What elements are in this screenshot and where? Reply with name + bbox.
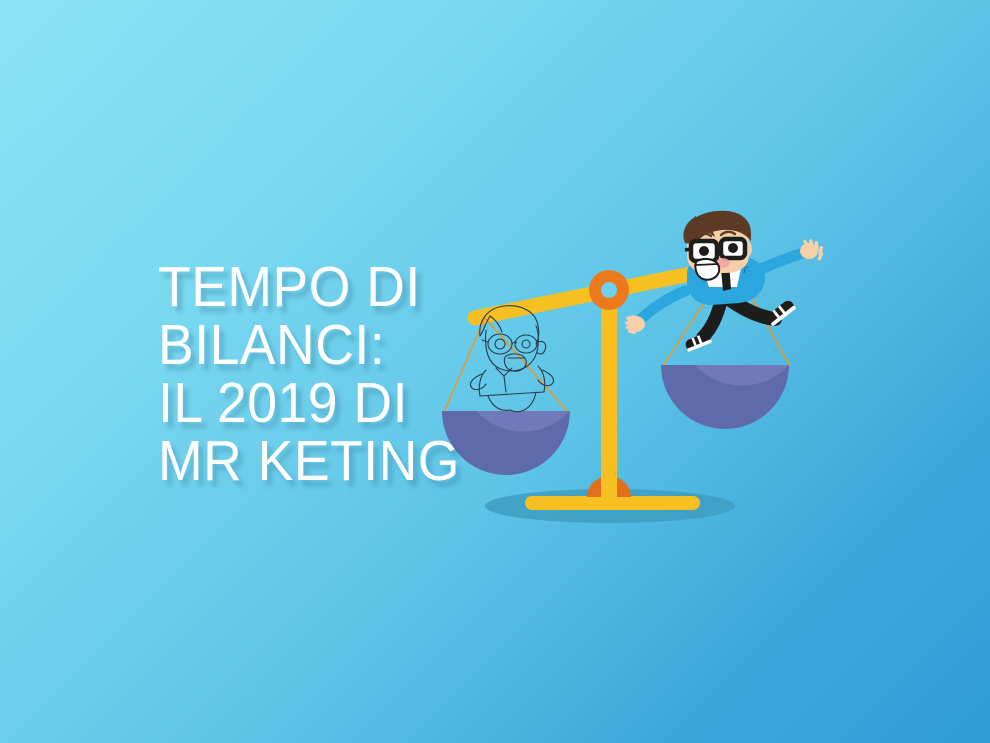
character-pupil-left [699, 246, 709, 256]
character-glasses [685, 239, 745, 261]
page-title: TEMPO DI BILANCI: IL 2019 DI MR KETING [158, 258, 588, 490]
poster-canvas: TEMPO DI BILANCI: IL 2019 DI MR KETING [0, 0, 990, 743]
title-line-2: BILANCI: [158, 316, 562, 374]
scale-pivot-hole [601, 282, 617, 298]
character-mouth [695, 259, 719, 280]
mr-keting-figure: R [625, 225, 840, 385]
title-line-1: TEMPO DI [158, 258, 562, 316]
character-left-arm [625, 291, 685, 334]
character-pupil-right [728, 243, 738, 253]
character-left-leg [684, 301, 721, 352]
scale-base-bar [525, 496, 700, 510]
character-right-arm [751, 239, 824, 273]
title-line-4: MR KETING [158, 432, 562, 490]
title-line-3: IL 2019 DI [158, 374, 562, 432]
scale-post [601, 290, 617, 498]
